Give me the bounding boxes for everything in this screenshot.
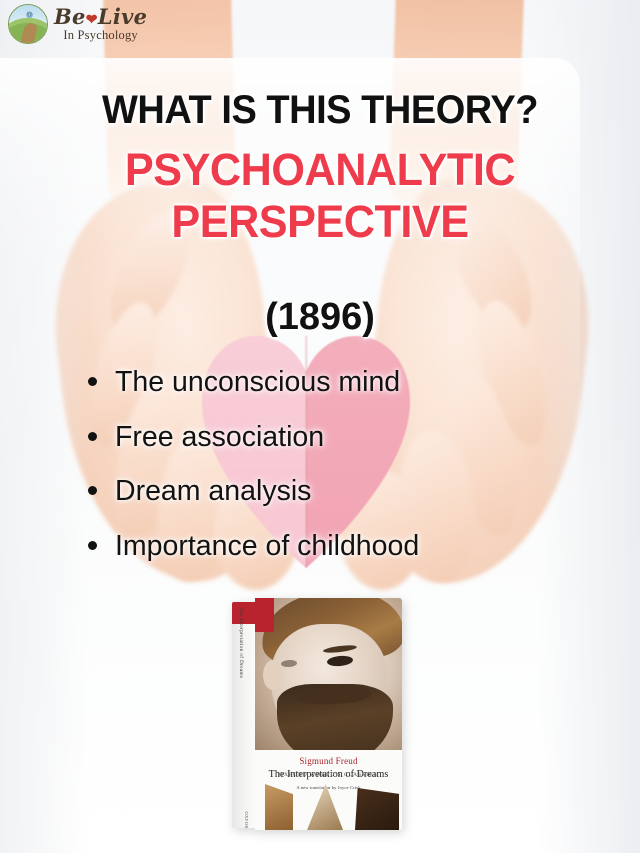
book-cover-decor-shape — [265, 784, 293, 830]
brand-logo[interactable]: ❁ Be❤Live In Psychology — [8, 4, 147, 44]
book-publisher-line: OXFORD WORLD'S CLASSICS — [255, 772, 402, 778]
bullet-dot-icon — [88, 486, 97, 495]
book-front-cover: Sigmund Freud The Interpretation of Drea… — [255, 598, 402, 830]
book-spine: Freud The Interpretation of Dreams OXFOR… — [232, 602, 255, 828]
brand-name-part1: Be — [54, 4, 86, 29]
theory-heading-line-2: PERSPECTIVE — [13, 196, 627, 248]
list-item: Dream analysis — [84, 477, 419, 506]
list-item: The unconscious mind — [84, 368, 419, 397]
book-cover-decor-shape — [355, 788, 399, 830]
list-item: Free association — [84, 423, 419, 452]
bullet-dot-icon — [88, 432, 97, 441]
brand-logo-text: Be❤Live In Psychology — [54, 6, 147, 42]
brand-tagline: In Psychology — [54, 29, 147, 42]
book-cover-red-tab — [255, 598, 274, 632]
landscape-circle-logo-icon: ❁ — [8, 4, 48, 44]
freud-portrait-photo — [255, 598, 402, 750]
book-spine-publisher: OXFORD — [244, 811, 249, 828]
infographic-poster: ❁ Be❤Live In Psychology WHAT IS THIS THE… — [0, 0, 640, 853]
list-item-label: Dream analysis — [115, 475, 311, 507]
key-concepts-list: The unconscious mind Free association Dr… — [84, 368, 419, 586]
book-spine-text: Freud The Interpretation of Dreams — [238, 602, 244, 678]
list-item-label: Free association — [115, 421, 324, 453]
bullet-dot-icon — [88, 541, 97, 550]
book-spine-title: The Interpretation of Dreams — [238, 608, 244, 678]
book-cover-decor-shape — [307, 784, 343, 830]
heart-icon: ❤ — [86, 12, 98, 28]
list-item: Importance of childhood — [84, 532, 419, 561]
brand-name-part2: Live — [98, 4, 148, 29]
list-item-label: The unconscious mind — [115, 366, 400, 398]
book-author: Sigmund Freud — [255, 756, 402, 766]
bullet-dot-icon — [88, 377, 97, 386]
brand-name: Be❤Live — [54, 6, 147, 27]
list-item-label: Importance of childhood — [115, 530, 419, 562]
theory-heading-line-1: PSYCHOANALYTIC — [13, 144, 627, 196]
question-heading: WHAT IS THIS THEORY? — [16, 88, 624, 133]
bird-icon: ❁ — [26, 11, 34, 20]
portrait-ear-shape — [263, 660, 283, 690]
theory-heading: PSYCHOANALYTIC PERSPECTIVE — [13, 144, 627, 248]
book-cover-image: Freud The Interpretation of Dreams OXFOR… — [232, 598, 402, 830]
year-heading: (1896) — [0, 296, 640, 339]
